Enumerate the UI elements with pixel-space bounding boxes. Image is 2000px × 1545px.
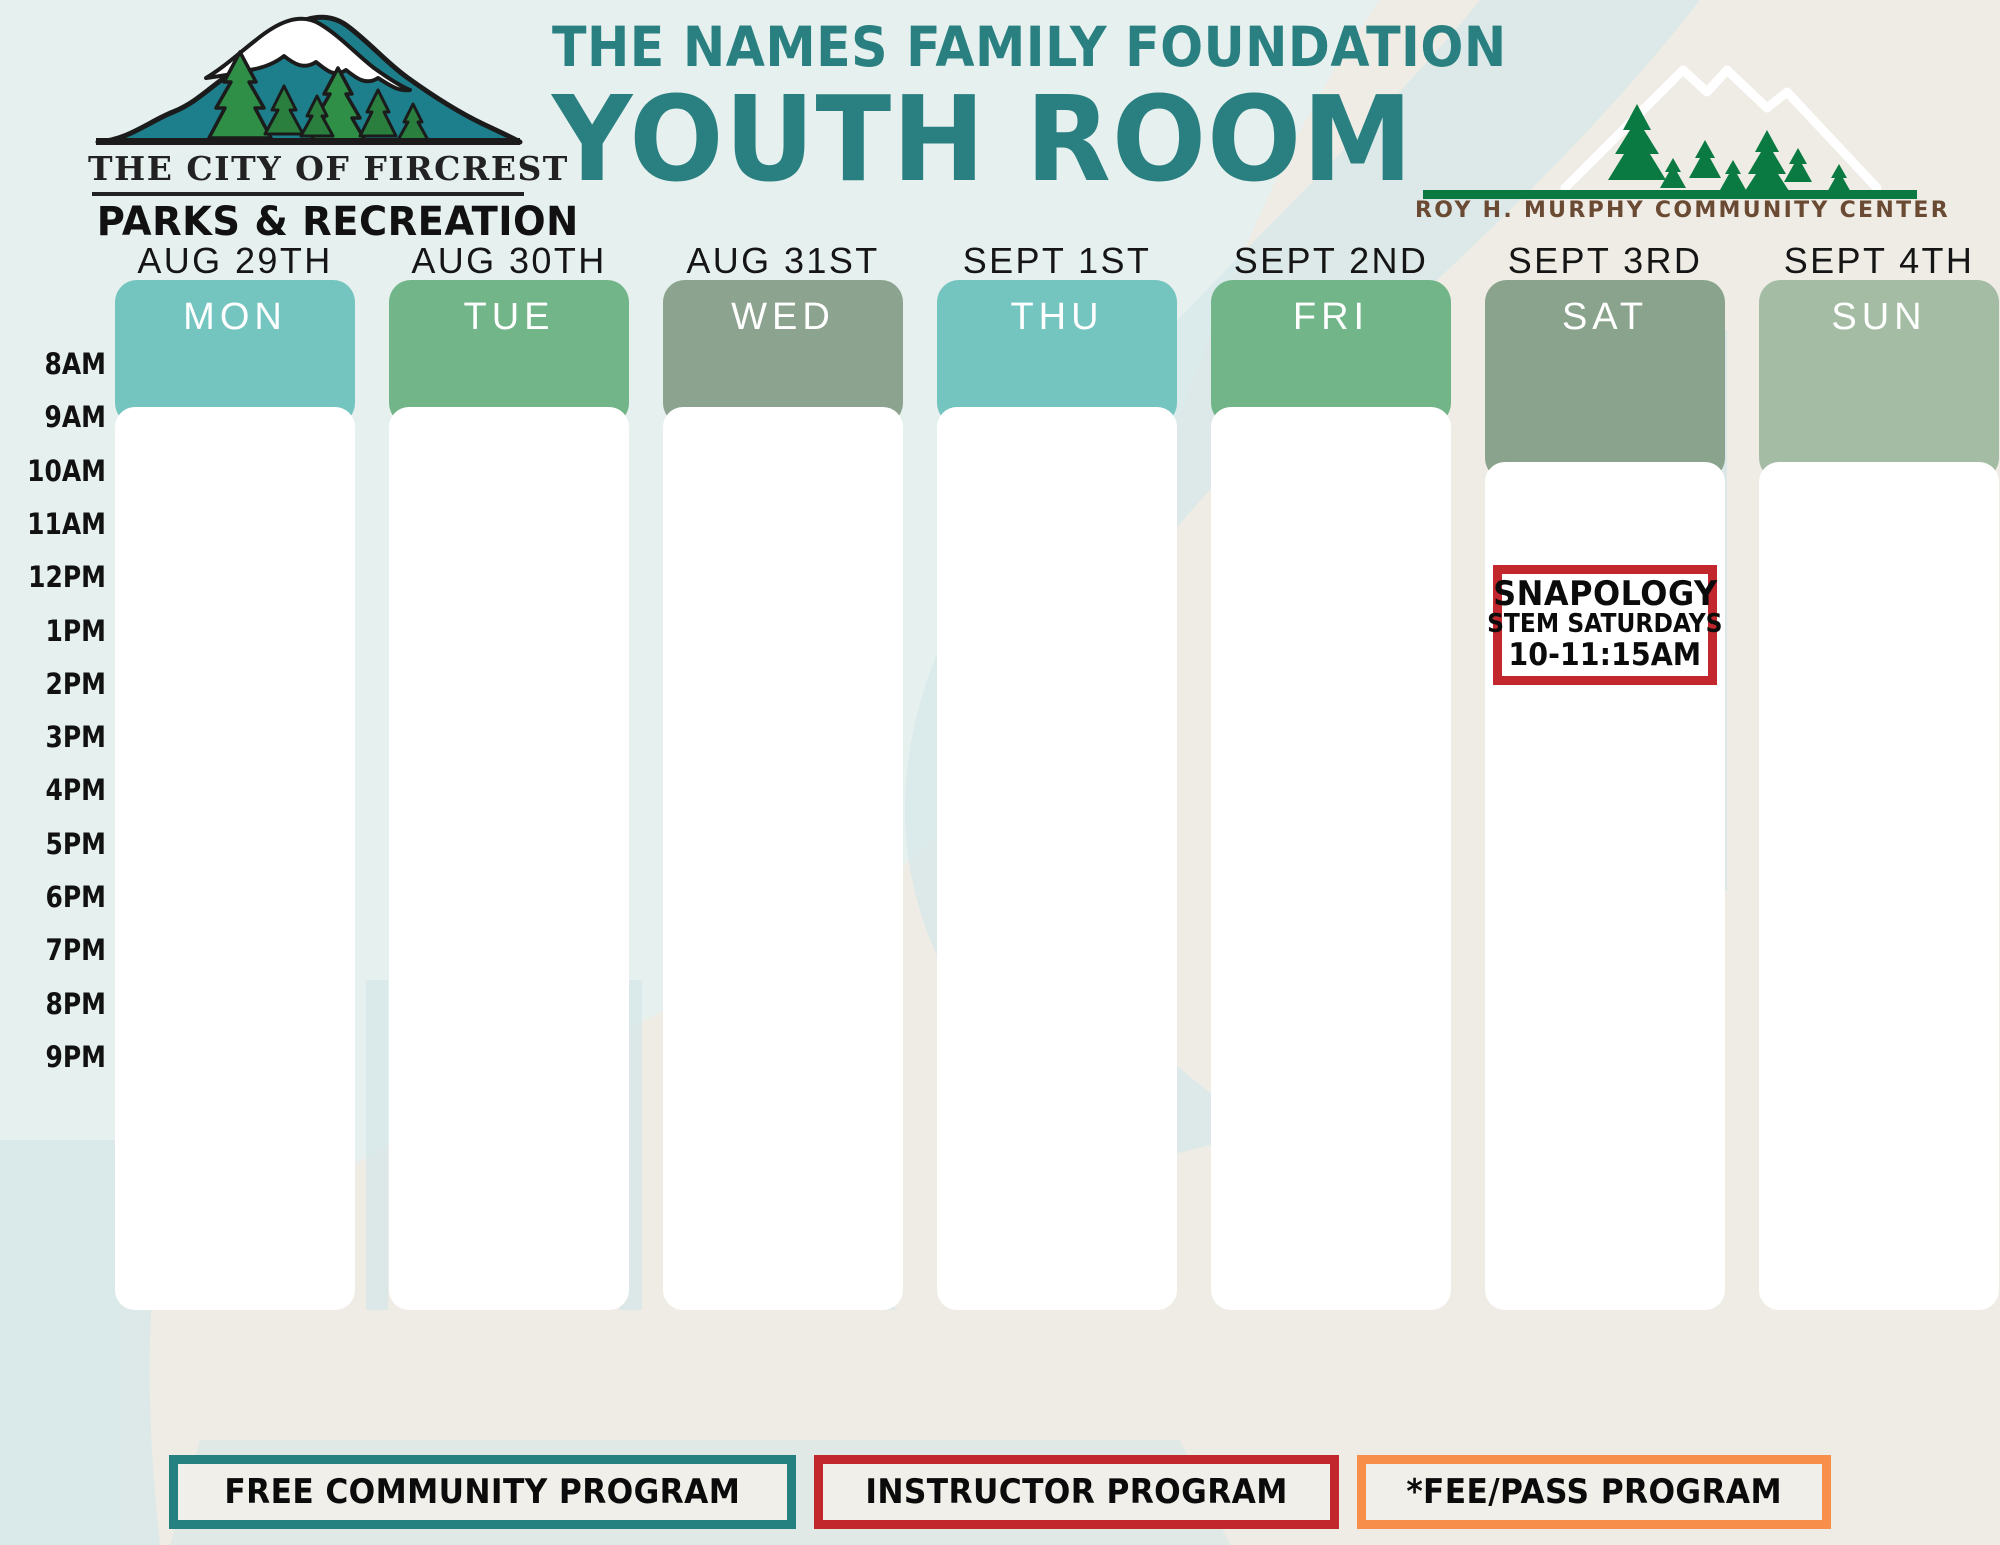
day-header-tue: TUE	[389, 280, 629, 425]
day-name-label: THU	[1010, 296, 1103, 425]
time-label: 12PM	[15, 560, 106, 594]
day-header-wed: WED	[663, 280, 903, 425]
day-header-thu: THU	[937, 280, 1177, 425]
day-date-label: SEPT 3RD	[1485, 240, 1725, 282]
day-slots-mon[interactable]	[115, 407, 355, 1310]
event-title: SNAPOLOGY	[1493, 577, 1717, 612]
event-subtitle: STEM SATURDAYS	[1487, 611, 1722, 638]
weekly-schedule-grid: 8AM9AM10AM11AM12PM1PM2PM3PM4PM5PM6PM7PM8…	[0, 240, 2000, 1350]
city-logo-wordmark: THE CITY OF FIRCREST PARKS & RECREATION	[88, 152, 528, 242]
day-column-wed[interactable]: AUG 31STWED	[663, 240, 903, 1310]
day-name-label: TUE	[464, 296, 555, 425]
time-label: 8PM	[15, 987, 106, 1021]
day-date-label: SEPT 2ND	[1211, 240, 1451, 282]
time-label: 1PM	[15, 614, 106, 648]
day-column-mon[interactable]: AUG 29THMON	[115, 240, 355, 1310]
time-label: 9AM	[15, 400, 106, 434]
legend-item-label: *FEE/PASS PROGRAM	[1406, 1472, 1782, 1512]
day-date-label: AUG 30TH	[389, 240, 629, 282]
city-of-fircrest-logo: THE CITY OF FIRCREST PARKS & RECREATION	[88, 12, 528, 237]
time-label: 11AM	[15, 507, 106, 541]
poster-header: THE CITY OF FIRCREST PARKS & RECREATION …	[0, 0, 2000, 240]
city-logo-line1: THE CITY OF FIRCREST	[88, 152, 528, 185]
title-main: YOUTH ROOM	[552, 79, 1342, 199]
day-header-mon: MON	[115, 280, 355, 425]
day-slots-fri[interactable]	[1211, 407, 1451, 1310]
day-date-label: SEPT 4TH	[1759, 240, 1999, 282]
day-header-fri: FRI	[1211, 280, 1451, 425]
day-header-sat: SAT	[1485, 280, 1725, 480]
time-label: 3PM	[15, 720, 106, 754]
time-axis: 8AM9AM10AM11AM12PM1PM2PM3PM4PM5PM6PM7PM8…	[0, 240, 112, 1350]
program-type-legend: FREE COMMUNITY PROGRAMINSTRUCTOR PROGRAM…	[0, 1455, 2000, 1529]
mountain-evergreens-icon	[1415, 30, 1925, 210]
schedule-poster: THE CITY OF FIRCREST PARKS & RECREATION …	[0, 0, 2000, 1545]
day-date-label: AUG 29TH	[115, 240, 355, 282]
time-label: 10AM	[15, 454, 106, 488]
day-column-tue[interactable]: AUG 30THTUE	[389, 240, 629, 1310]
day-name-label: MON	[183, 296, 287, 425]
time-label: 4PM	[15, 773, 106, 807]
day-column-thu[interactable]: SEPT 1STTHU	[937, 240, 1177, 1310]
time-label: 5PM	[15, 827, 106, 861]
day-name-label: FRI	[1293, 296, 1369, 425]
legend-item-1[interactable]: FREE COMMUNITY PROGRAM	[169, 1455, 796, 1529]
time-label: 2PM	[15, 667, 106, 701]
title-superline: THE NAMES FAMILY FOUNDATION	[552, 20, 1325, 75]
day-name-label: SAT	[1562, 296, 1648, 480]
legend-item-2[interactable]: INSTRUCTOR PROGRAM	[814, 1455, 1339, 1529]
event-time: 10-11:15AM	[1509, 639, 1702, 672]
day-name-label: WED	[731, 296, 835, 425]
time-label: 9PM	[15, 1040, 106, 1074]
day-header-sun: SUN	[1759, 280, 1999, 480]
legend-item-3[interactable]: *FEE/PASS PROGRAM	[1357, 1455, 1831, 1529]
day-column-sun[interactable]: SEPT 4THSUN	[1759, 240, 1999, 1310]
day-date-label: SEPT 1ST	[937, 240, 1177, 282]
day-slots-wed[interactable]	[663, 407, 903, 1310]
time-label: 7PM	[15, 933, 106, 967]
legend-item-label: INSTRUCTOR PROGRAM	[865, 1472, 1287, 1512]
partner-logo-caption: ROY H. MURPHY COMMUNITY CENTER	[1415, 198, 1925, 223]
day-column-fri[interactable]: SEPT 2NDFRI	[1211, 240, 1451, 1310]
day-slots-tue[interactable]	[389, 407, 629, 1310]
event-block-instructor-program[interactable]: SNAPOLOGYSTEM SATURDAYS10-11:15AM	[1493, 565, 1717, 685]
time-label: 8AM	[15, 347, 106, 381]
time-label: 6PM	[15, 880, 106, 914]
day-slots-sun[interactable]	[1759, 462, 1999, 1310]
mountain-trees-icon	[88, 12, 528, 152]
city-logo-line2: PARKS & RECREATION	[97, 202, 519, 242]
page-title: THE NAMES FAMILY FOUNDATION YOUTH ROOM	[552, 20, 1392, 199]
day-column-sat[interactable]: SEPT 3RDSAT	[1485, 240, 1725, 1310]
legend-item-label: FREE COMMUNITY PROGRAM	[224, 1472, 740, 1512]
day-slots-thu[interactable]	[937, 407, 1177, 1310]
day-date-label: AUG 31ST	[663, 240, 903, 282]
day-name-label: SUN	[1831, 296, 1926, 480]
city-logo-divider	[92, 192, 524, 196]
